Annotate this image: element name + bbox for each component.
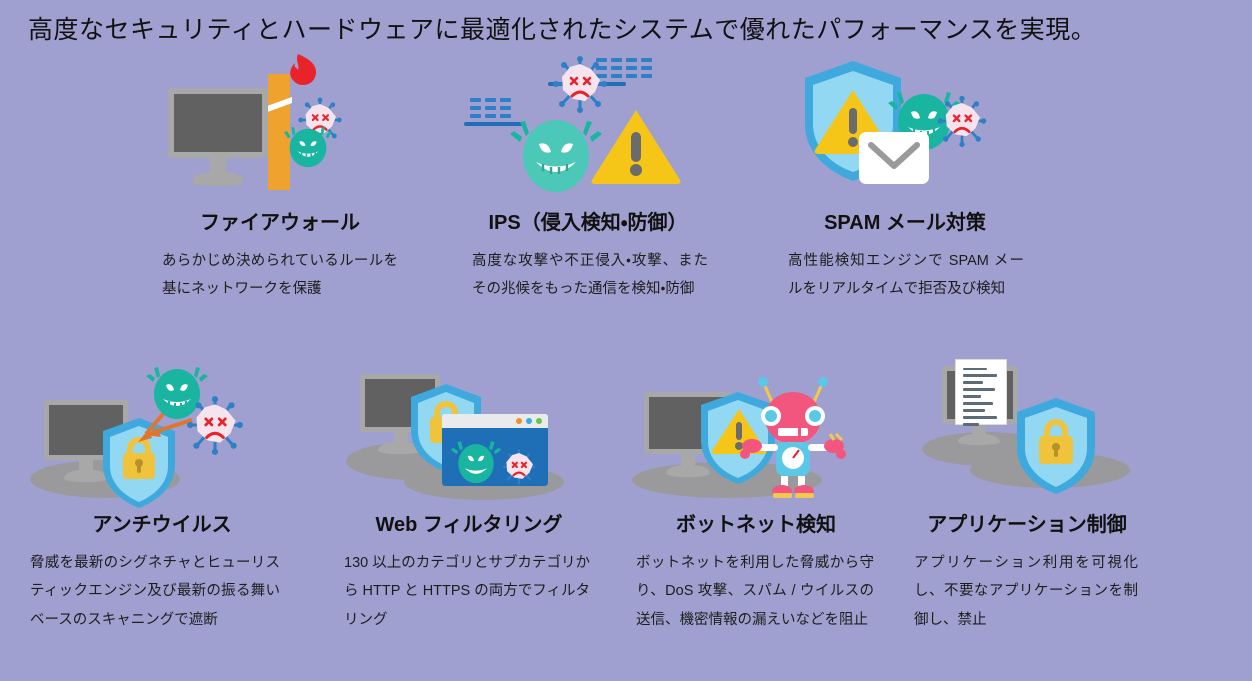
page-headline: 高度なセキュリティとハードウェアに最適化されたシステムで優れたパフォーマンスを実… xyxy=(28,10,1096,46)
monitor-base xyxy=(192,172,244,186)
app-control-illustration xyxy=(908,352,1146,502)
virus-green-icon xyxy=(280,116,336,172)
features-page: 高度なセキュリティとハードウェアに最適化されたシステムで優れたパフォーマンスを実… xyxy=(0,0,1252,681)
browser-content xyxy=(442,428,548,486)
botnet-illustration xyxy=(626,352,886,502)
virus-green-icon xyxy=(506,98,606,198)
web-filtering-illustration xyxy=(334,352,604,502)
firewall-slash xyxy=(268,94,292,116)
feature-title: ボットネット検知 xyxy=(626,508,886,537)
monitor-base xyxy=(958,434,1000,445)
feature-description: ボットネットを利用した脅威から守り、DoS 攻撃、スパム / ウイルスの送信、機… xyxy=(636,549,874,634)
spam-illustration xyxy=(780,50,1030,200)
browser-dot-green xyxy=(536,418,542,424)
browser-dot-blue xyxy=(526,418,532,424)
virus-pink-icon xyxy=(184,394,246,456)
feature-card-firewall[interactable]: ファイアウォール あらかじめ決められているルールを基にネットワークを保護 xyxy=(150,50,410,304)
feature-description: 脅威を最新のシグネチャとヒューリスティックエンジン及び最新の振る舞いベースのスキ… xyxy=(30,549,280,634)
document-icon xyxy=(956,360,1006,424)
feature-title: アプリケーション制御 xyxy=(908,508,1146,537)
feature-card-antivirus[interactable]: アンチウイルス 脅威を最新のシグネチャとヒューリスティックエンジン及び最新の振る… xyxy=(22,352,302,634)
feature-title: ファイアウォール xyxy=(150,206,410,235)
browser-dot-orange xyxy=(516,418,522,424)
feature-card-spam[interactable]: SPAM メール対策 高性能検知エンジンで SPAM メールをリアルタイムで拒否… xyxy=(780,50,1030,304)
virus-pink-icon xyxy=(498,446,540,486)
firewall-illustration xyxy=(150,50,410,200)
feature-row-1: ファイアウォール あらかじめ決められているルールを基にネットワークを保護 xyxy=(0,50,1252,304)
browser-titlebar xyxy=(442,414,548,428)
feature-card-botnet[interactable]: ボットネット検知 ボットネットを利用した脅威から守り、DoS 攻撃、スパム / … xyxy=(626,352,886,634)
feature-description: アプリケーション利用を可視化し、不要なアプリケーションを制御し、禁止 xyxy=(914,549,1138,634)
feature-row-2: アンチウイルス 脅威を最新のシグネチャとヒューリスティックエンジン及び最新の振る… xyxy=(0,352,1252,634)
robot-icon xyxy=(738,376,848,500)
feature-title: アンチウイルス xyxy=(22,508,302,537)
feature-description: 130 以上のカテゴリとサブカテゴリから HTTP と HTTPS の両方でフィ… xyxy=(344,549,590,634)
browser-window-icon[interactable] xyxy=(442,414,548,486)
padlock-icon xyxy=(1033,414,1079,473)
feature-description: あらかじめ決められているルールを基にネットワークを保護 xyxy=(162,247,398,304)
virus-pink-icon xyxy=(935,94,989,148)
ips-illustration xyxy=(458,50,718,200)
feature-description: 高性能検知エンジンで SPAM メールをリアルタイムで拒否及び検知 xyxy=(788,247,1024,304)
feature-card-app-control[interactable]: アプリケーション制御 アプリケーション利用を可視化し、不要なアプリケーションを制… xyxy=(908,352,1146,634)
feature-title: IPS（侵入検知・防御） xyxy=(458,206,718,235)
feature-title: SPAM メール対策 xyxy=(780,206,1030,235)
feature-title: Web フィルタリング xyxy=(334,508,604,537)
virus-green-icon xyxy=(448,430,504,486)
antivirus-illustration xyxy=(22,352,302,502)
monitor-icon xyxy=(168,88,268,158)
flame-icon xyxy=(274,52,318,96)
envelope-icon xyxy=(859,132,929,184)
feature-card-ips[interactable]: IPS（侵入検知・防御） 高度な攻撃や不正侵入・攻撃、またその兆候をもった通信を… xyxy=(458,50,718,304)
feature-card-web-filtering[interactable]: Web フィルタリング 130 以上のカテゴリとサブカテゴリから HTTP と … xyxy=(334,352,604,634)
feature-description: 高度な攻撃や不正侵入・攻撃、またその兆候をもった通信を検知・防御 xyxy=(472,247,708,304)
